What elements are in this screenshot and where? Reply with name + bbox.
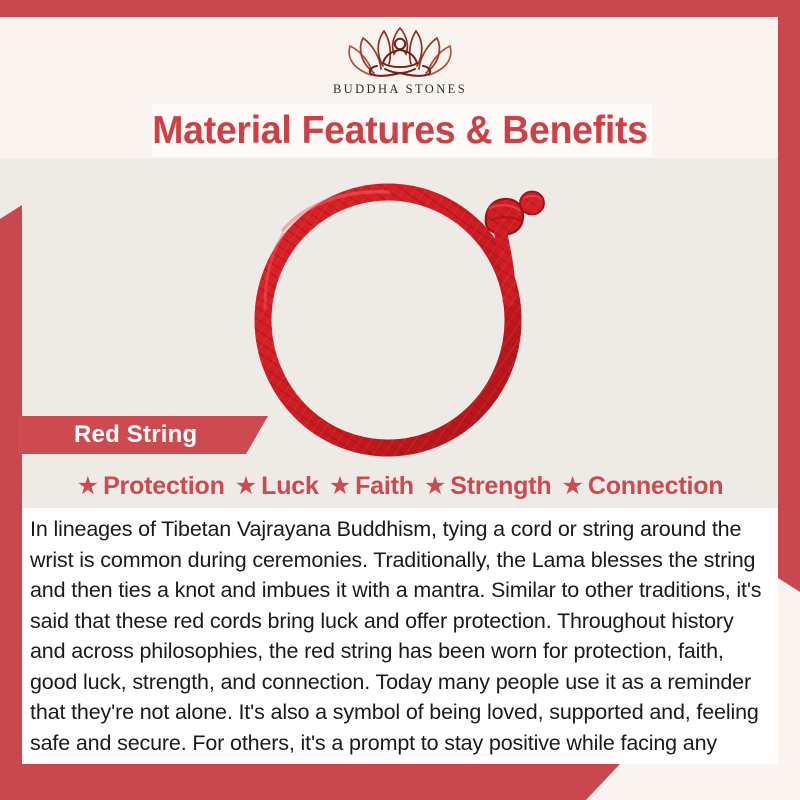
lotus-meditation-figure-icon	[341, 18, 459, 80]
brand-name: BUDDHA STONES	[333, 82, 467, 97]
benefit-label: Connection	[588, 474, 724, 499]
star-icon: ★	[235, 474, 257, 499]
red-braided-cord-bracelet	[238, 168, 564, 464]
benefit-label: Protection	[103, 474, 225, 499]
benefit-label: Strength	[450, 474, 551, 499]
star-icon: ★	[329, 474, 351, 499]
star-icon: ★	[561, 474, 583, 499]
benefit-item-luck: ★ Luck	[235, 474, 319, 499]
product-banner: Red String	[18, 416, 268, 454]
right-red-bar	[778, 0, 800, 592]
benefit-item-connection: ★ Connection	[561, 474, 723, 499]
infographic-page: BUDDHA STONES Material Features & Benefi…	[0, 0, 800, 800]
benefit-item-faith: ★ Faith	[329, 474, 414, 499]
description-text: In lineages of Tibetan Vajrayana Buddhis…	[30, 514, 766, 789]
benefit-item-protection: ★ Protection	[77, 474, 225, 499]
benefit-item-strength: ★ Strength	[424, 474, 552, 499]
benefits-list: ★ Protection ★ Luck ★ Faith ★ Strength ★…	[22, 466, 778, 506]
star-icon: ★	[77, 474, 99, 499]
top-red-bar	[0, 0, 800, 17]
left-red-bar	[0, 205, 22, 765]
benefit-label: Luck	[261, 474, 319, 499]
description-panel: In lineages of Tibetan Vajrayana Buddhis…	[22, 508, 778, 764]
brand-logo: BUDDHA STONES	[0, 18, 800, 104]
product-banner-label: Red String	[74, 421, 197, 449]
benefit-label: Faith	[355, 474, 414, 499]
page-title: Material Features & Benefits	[131, 106, 669, 156]
star-icon: ★	[424, 474, 446, 499]
bottom-red-bar	[0, 764, 620, 800]
